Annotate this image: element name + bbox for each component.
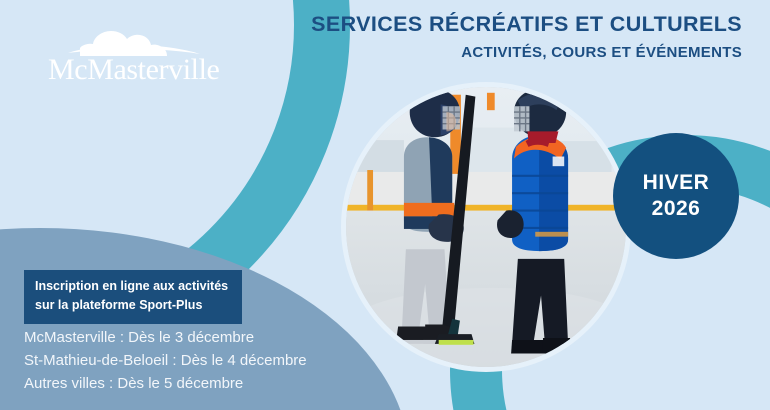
svg-text:McMasterville: McMasterville (48, 53, 220, 86)
page-subtitle: ACTIVITÉS, COURS ET ÉVÉNEMENTS (311, 44, 742, 62)
ice-rink-photo (346, 87, 626, 367)
season-badge-year: 2026 (652, 197, 701, 221)
registration-line-1: Inscription en ligne aux activités (35, 277, 228, 296)
header-block: SERVICES RÉCRÉATIFS ET CULTURELS ACTIVIT… (311, 12, 742, 62)
page-title: SERVICES RÉCRÉATIFS ET CULTURELS (311, 12, 742, 37)
poster-canvas: McMasterville SERVICES RÉCRÉATIFS ET CUL… (0, 0, 770, 410)
date-item-mcmasterville: McMasterville : Dès le 3 décembre (24, 327, 307, 350)
season-badge-season: HIVER (643, 171, 710, 195)
registration-line-2: sur la plateforme Sport-Plus (35, 296, 228, 315)
date-item-st-mathieu-de-beloeil: St-Mathieu-de-Beloeil : Dès le 4 décembr… (24, 350, 307, 373)
registration-label: Inscription en ligne aux activités sur l… (24, 270, 242, 324)
date-item-autres-villes: Autres villes : Dès le 5 décembre (24, 373, 307, 396)
photo-ring (341, 82, 631, 372)
season-badge: HIVER 2026 (613, 133, 739, 259)
dates-list: McMasterville : Dès le 3 décembre St-Mat… (24, 327, 307, 396)
mcmasterville-logo: McMasterville (44, 12, 234, 86)
